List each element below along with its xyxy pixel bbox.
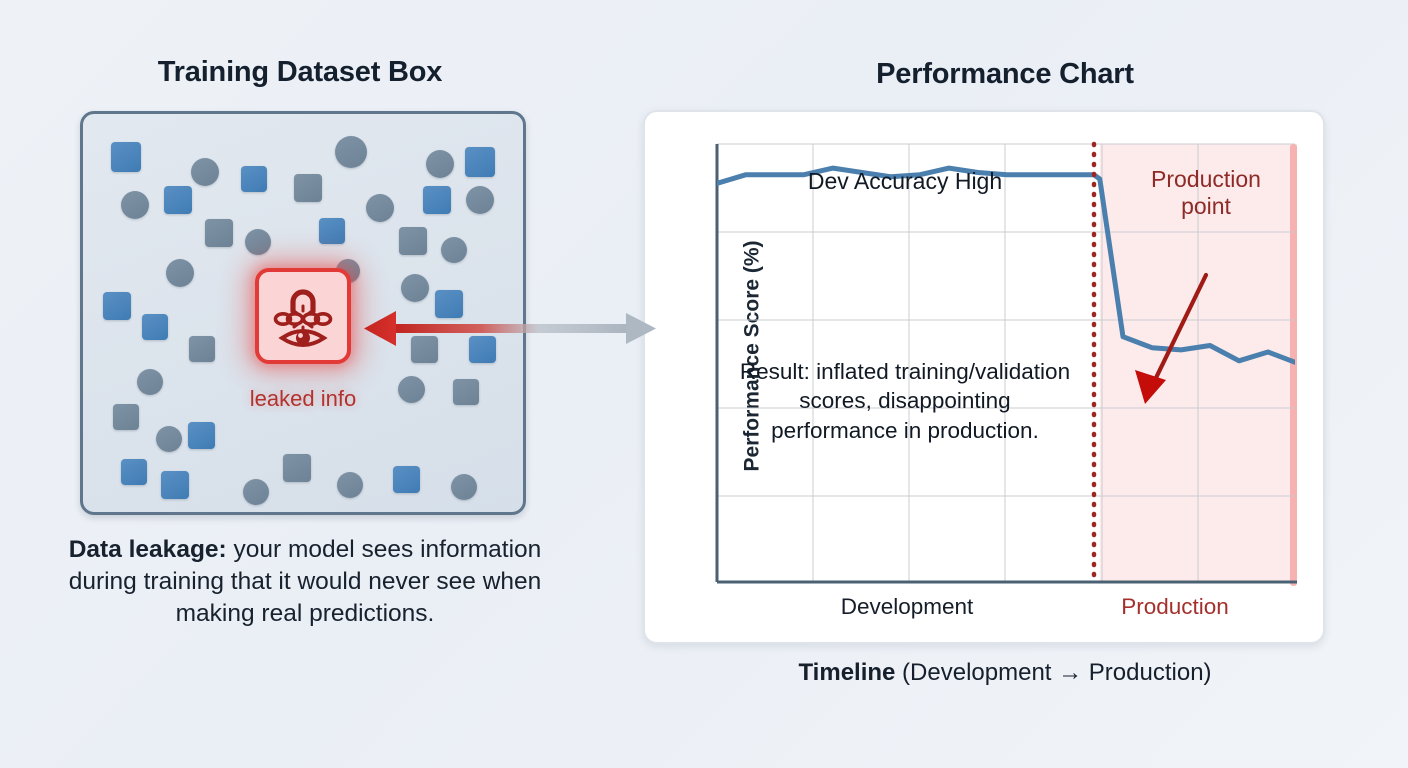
data-sample-gray	[137, 369, 163, 395]
performance-chart-title: Performance Chart	[640, 58, 1370, 91]
data-sample-gray	[283, 454, 311, 482]
leaked-info-label: leaked info	[185, 386, 421, 412]
data-sample-gray	[121, 191, 149, 219]
data-sample-blue	[103, 292, 131, 320]
data-sample-gray	[399, 227, 427, 255]
data-sample-gray	[243, 479, 269, 505]
data-sample-gray	[166, 259, 194, 287]
data-sample-blue	[164, 186, 192, 214]
data-leakage-caption: Data leakage: your model sees informatio…	[62, 534, 548, 630]
x-tick-label-production: Production	[1045, 594, 1305, 620]
data-sample-gray	[466, 186, 494, 214]
annotation-dev-accuracy-high: Dev Accuracy High	[745, 168, 1065, 195]
timeline-caption-bold: Timeline	[798, 659, 895, 686]
data-sample-gray	[441, 237, 467, 263]
data-sample-blue	[241, 166, 267, 192]
data-sample-blue	[142, 314, 168, 340]
annotation-production-point: Productionpoint	[1108, 166, 1304, 220]
data-sample-blue	[423, 186, 451, 214]
data-sample-gray	[451, 474, 477, 500]
performance-chart-card: Performance Score (%)	[643, 110, 1325, 644]
data-sample-gray	[401, 274, 429, 302]
arrow-head-left	[364, 311, 396, 346]
bidirectional-connector-arrow	[360, 300, 660, 360]
training-dataset-title: Training Dataset Box	[0, 56, 600, 89]
data-sample-gray	[245, 229, 271, 255]
timeline-caption-rest: (Development → Production)	[895, 659, 1211, 686]
data-sample-blue	[111, 142, 141, 172]
data-sample-blue	[319, 218, 345, 244]
arrow-head-right	[626, 313, 656, 344]
broken-lock-chain-eye-icon	[268, 281, 338, 351]
data-sample-gray	[453, 379, 479, 405]
data-sample-blue	[393, 466, 420, 493]
data-sample-blue	[161, 471, 189, 499]
data-sample-gray	[294, 174, 322, 202]
data-leakage-caption-bold: Data leakage:	[69, 536, 227, 563]
data-sample-gray	[426, 150, 454, 178]
data-sample-gray	[337, 472, 363, 498]
data-sample-gray	[113, 404, 139, 430]
annotation-result-note: Result: inflated training/validation sco…	[735, 357, 1075, 445]
data-sample-gray	[189, 336, 215, 362]
timeline-caption: Timeline (Development → Production)	[640, 659, 1370, 687]
data-sample-blue	[188, 422, 215, 449]
data-sample-blue	[465, 147, 495, 177]
data-sample-gray	[191, 158, 219, 186]
data-sample-gray	[156, 426, 182, 452]
data-sample-gray	[205, 219, 233, 247]
training-dataset-panel: Training Dataset Box	[0, 0, 610, 768]
data-sample-gray	[335, 136, 367, 168]
data-sample-blue	[121, 459, 147, 485]
x-tick-label-development: Development	[767, 594, 1047, 620]
leaked-info-badge[interactable]	[255, 268, 351, 364]
data-sample-gray	[366, 194, 394, 222]
